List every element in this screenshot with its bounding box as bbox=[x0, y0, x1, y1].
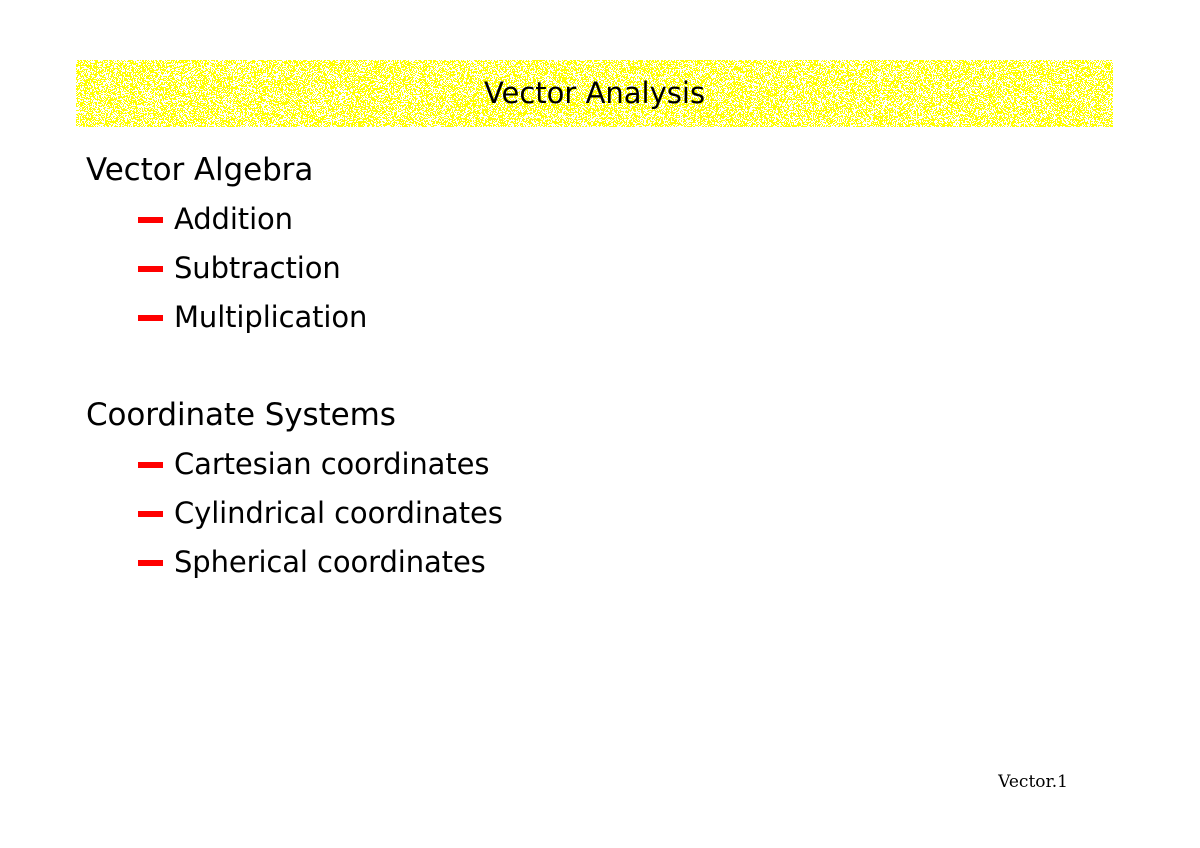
en-dash-bullet-icon bbox=[138, 560, 163, 566]
group-spacer bbox=[86, 342, 1116, 391]
list-item-label: Addition bbox=[174, 202, 293, 236]
list-item: Spherical coordinates bbox=[86, 538, 1116, 587]
list-item-label: Multiplication bbox=[174, 300, 367, 334]
en-dash-bullet-icon bbox=[138, 217, 163, 223]
list-item: Cartesian coordinates bbox=[86, 440, 1116, 489]
en-dash-bullet-icon bbox=[138, 266, 163, 272]
bullet-list: Addition Subtraction Multiplication bbox=[86, 195, 1116, 342]
list-item: Multiplication bbox=[86, 293, 1116, 342]
bullet-list: Cartesian coordinates Cylindrical coordi… bbox=[86, 440, 1116, 587]
list-item: Addition bbox=[86, 195, 1116, 244]
group-heading: Coordinate Systems bbox=[86, 391, 1116, 440]
en-dash-bullet-icon bbox=[138, 315, 163, 321]
slide-footer-page-label: Vector.1 bbox=[0, 772, 1068, 792]
list-item: Cylindrical coordinates bbox=[86, 489, 1116, 538]
list-item-label: Spherical coordinates bbox=[174, 545, 486, 579]
slide-title-banner: Vector Analysis bbox=[76, 60, 1113, 127]
list-item-label: Cartesian coordinates bbox=[174, 447, 489, 481]
content-group-vector-algebra: Vector Algebra Addition Subtraction Mult… bbox=[86, 146, 1116, 342]
slide-body: Vector Algebra Addition Subtraction Mult… bbox=[86, 146, 1116, 587]
en-dash-bullet-icon bbox=[138, 511, 163, 517]
slide-title: Vector Analysis bbox=[76, 60, 1113, 127]
list-item-label: Cylindrical coordinates bbox=[174, 496, 503, 530]
list-item-label: Subtraction bbox=[174, 251, 341, 285]
en-dash-bullet-icon bbox=[138, 462, 163, 468]
group-heading: Vector Algebra bbox=[86, 146, 1116, 195]
list-item: Subtraction bbox=[86, 244, 1116, 293]
content-group-coordinate-systems: Coordinate Systems Cartesian coordinates… bbox=[86, 391, 1116, 587]
presentation-slide: Vector Analysis Vector Algebra Addition … bbox=[0, 0, 1200, 848]
